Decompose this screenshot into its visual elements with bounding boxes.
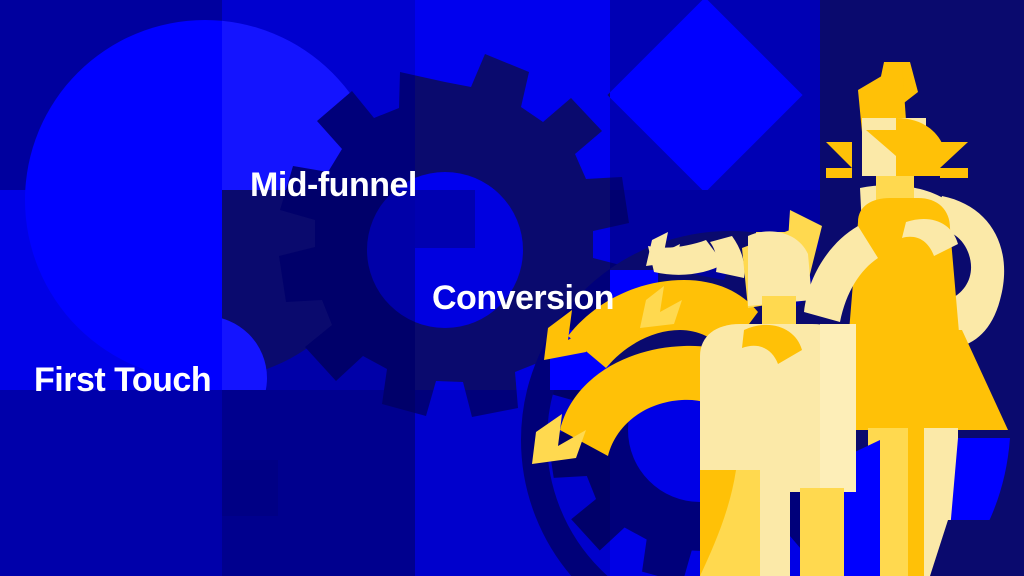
label-first-touch: First Touch — [34, 363, 211, 397]
label-mid-funnel: Mid-funnel — [250, 168, 417, 202]
hero-graphic: First Touch Mid-funnel Conversion — [0, 0, 1024, 576]
label-conversion: Conversion — [432, 281, 614, 315]
